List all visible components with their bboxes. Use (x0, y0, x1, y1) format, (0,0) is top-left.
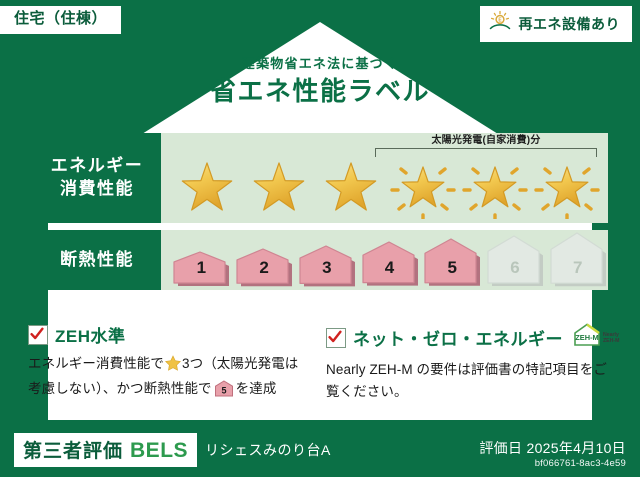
star-icon (531, 157, 603, 219)
statement-zeh-body: エネルギー消費性能で3つ（太陽光発電は考慮しない）、かつ断熱性能で5を達成 (28, 353, 310, 404)
evaluation-id: bf066761-8ac3-4e59 (479, 458, 626, 469)
solar-annotation-bracket (375, 148, 597, 157)
statement-nze-body: Nearly ZEH-M の要件は評価書の特記項目をご覧ください。 (326, 359, 612, 403)
statement-nze-header: ネット・ゼロ・エネルギー ZEH-M Nearly ZEH-M (326, 322, 612, 353)
renewable-equipment-badge: E 再エネ設備あり (480, 6, 633, 42)
statement-zeh-title: ZEH水準 (55, 322, 126, 347)
energy-label-line2: 消費性能 (60, 178, 134, 201)
insulation-grade-scale: 1234567 (171, 232, 608, 287)
third-party-evaluation-badge: 第三者評価 BELS リシェスみのり台A (14, 433, 331, 467)
renewable-badge-label: 再エネ設備あり (519, 14, 621, 34)
statement-zeh-text-1: エネルギー消費性能で (28, 356, 164, 371)
energy-performance-label: エネルギー 消費性能 (33, 133, 161, 223)
statement-zeh-text-3: を達成 (236, 381, 277, 396)
category-tag: 住宅（住棟） (0, 6, 121, 34)
statement-zeh-header: ZEH水準 (28, 322, 310, 347)
evaluation-date: 評価日 2025年4月10日 (479, 439, 626, 457)
evaluation-date-label: 評価日 (479, 440, 522, 456)
solar-annotation-label: 太陽光発電(自家消費)分 (375, 135, 597, 146)
inline-grade-value: 5 (221, 385, 226, 395)
star-icon (171, 157, 243, 219)
svg-text:ZEH-M: ZEH-M (575, 333, 598, 342)
evaluation-date-value: 2025年4月10日 (526, 440, 626, 456)
statement-zeh-standard: ZEH水準 エネルギー消費性能で3つ（太陽光発電は考慮しない）、かつ断熱性能で5… (28, 322, 310, 404)
insulation-performance-row: 断熱性能 1234567 (33, 230, 608, 290)
building-name: リシェスみのり台A (205, 440, 331, 460)
energy-label-line1: エネルギー (51, 155, 144, 178)
inline-grade-badge: 5 (214, 385, 234, 400)
bels-box: 第三者評価 BELS (14, 433, 197, 467)
energy-rating-area: 太陽光発電(自家消費)分 (161, 133, 608, 223)
insulation-grade-badge: 7 (547, 232, 608, 287)
performance-rows: エネルギー 消費性能 太陽光発電(自家消費)分 断熱性能 (33, 133, 608, 290)
statement-net-zero-energy: ネット・ゼロ・エネルギー ZEH-M Nearly ZEH-M Nearly Z… (326, 322, 612, 404)
insulation-grade-badge: 1 (171, 251, 232, 287)
insulation-label-line1: 断熱性能 (60, 249, 134, 272)
sun-icon: E (488, 10, 512, 37)
insulation-performance-label: 断熱性能 (33, 230, 161, 290)
star-icon (387, 157, 459, 219)
solar-annotation: 太陽光発電(自家消費)分 (375, 135, 597, 157)
statements-section: ZEH水準 エネルギー消費性能で3つ（太陽光発電は考慮しない）、かつ断熱性能で5… (28, 322, 612, 404)
star-icon (459, 157, 531, 219)
svg-text:ZEH-M: ZEH-M (603, 338, 619, 344)
statement-nze-title: ネット・ゼロ・エネルギー (353, 325, 563, 350)
label-subtitle: 建築物省エネ法に基づく (0, 56, 640, 72)
insulation-grade-badge: 6 (485, 235, 546, 287)
star-icon (315, 157, 387, 219)
insulation-rating-area: 1234567 (161, 230, 608, 290)
insulation-grade-badge: 2 (234, 248, 295, 287)
insulation-grade-badge: 5 (422, 238, 483, 287)
checkmark-icon (28, 325, 48, 345)
bels-label: BELS (130, 439, 188, 463)
page-title: 省エネ性能ラベル (0, 75, 640, 108)
evaluation-info: 評価日 2025年4月10日 bf066761-8ac3-4e59 (479, 439, 626, 469)
star-rating (161, 157, 608, 219)
star-icon (243, 157, 315, 219)
label-title-block: 建築物省エネ法に基づく 省エネ性能ラベル (0, 56, 640, 107)
star-icon (165, 359, 181, 374)
zeh-m-logo: ZEH-M Nearly ZEH-M (572, 322, 634, 353)
insulation-grade-badge: 3 (296, 245, 357, 287)
energy-performance-row: エネルギー 消費性能 太陽光発電(自家消費)分 (33, 133, 608, 223)
energy-performance-label: 住宅（住棟） E 再エネ設備あり 建築物省エネ法に基づく 省エネ性能ラベル (0, 0, 640, 477)
insulation-grade-badge: 4 (359, 241, 420, 287)
third-party-label: 第三者評価 (23, 436, 123, 463)
checkmark-icon (326, 328, 346, 348)
